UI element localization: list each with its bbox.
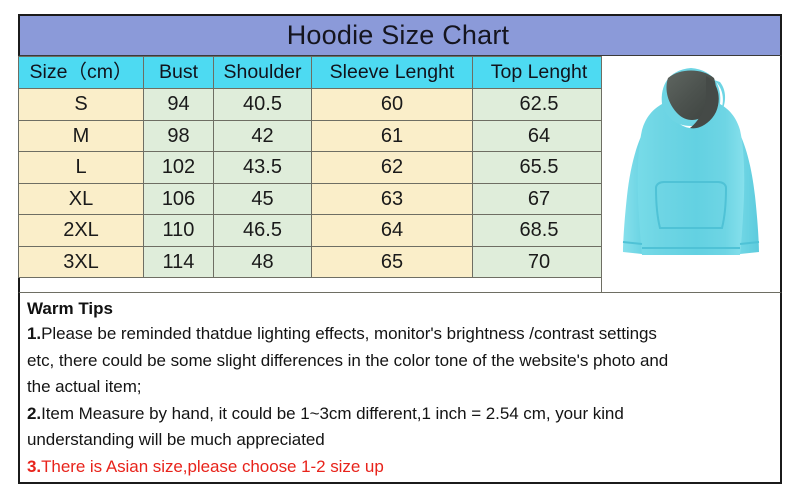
column-header-top-length: Top Lenght (473, 57, 606, 89)
cell-sleeve: 60 (312, 89, 473, 121)
table-row: 2XL 110 46.5 64 68.5 (19, 215, 606, 247)
table-header-row: Size（cm） Bust Shoulder Sleeve Lenght Top… (19, 57, 606, 89)
cell-bust: 114 (144, 246, 214, 278)
warm-tips-section: Warm Tips 1.Please be reminded thatdue l… (18, 292, 782, 484)
cell-size: XL (19, 183, 144, 215)
column-header-size: Size（cm） (19, 57, 144, 89)
cell-size: L (19, 152, 144, 184)
cell-size: 3XL (19, 246, 144, 278)
tip-number-1: 1. (27, 324, 41, 343)
table-row: XL 106 45 63 67 (19, 183, 606, 215)
table-row: M 98 42 61 64 (19, 120, 606, 152)
tip-item-2: 2.Item Measure by hand, it could be 1~3c… (27, 401, 773, 428)
size-chart-document: Hoodie Size Chart Size（cm） Bust Shoulder… (0, 0, 800, 500)
page-title: Hoodie Size Chart (287, 20, 510, 51)
cell-bust: 98 (144, 120, 214, 152)
table-row: 3XL 114 48 65 70 (19, 246, 606, 278)
cell-bust: 102 (144, 152, 214, 184)
tip-text-2-line-1: Item Measure by hand, it could be 1~3cm … (41, 404, 624, 423)
cell-sleeve: 62 (312, 152, 473, 184)
tip-item-1-cont2: the actual item; (27, 374, 773, 401)
cell-shoulder: 48 (214, 246, 312, 278)
cell-shoulder: 42 (214, 120, 312, 152)
column-header-bust: Bust (144, 57, 214, 89)
cell-shoulder: 43.5 (214, 152, 312, 184)
tip-item-1-cont: etc, there could be some slight differen… (27, 348, 773, 375)
column-header-sleeve-length: Sleeve Lenght (312, 57, 473, 89)
cell-sleeve: 63 (312, 183, 473, 215)
cell-top: 64 (473, 120, 606, 152)
chart-title-bar: Hoodie Size Chart (18, 14, 782, 56)
tip-item-1: 1.Please be reminded thatdue lighting ef… (27, 321, 773, 348)
cell-top: 67 (473, 183, 606, 215)
tip-number-3: 3. (27, 457, 41, 476)
cell-shoulder: 40.5 (214, 89, 312, 121)
cell-size: M (19, 120, 144, 152)
cell-shoulder: 46.5 (214, 215, 312, 247)
tip-text-2-line-2: understanding will be much appreciated (27, 430, 325, 449)
tip-item-2-cont: understanding will be much appreciated (27, 427, 773, 454)
cell-bust: 110 (144, 215, 214, 247)
warm-tips-heading: Warm Tips (27, 297, 773, 320)
cell-bust: 106 (144, 183, 214, 215)
cell-top: 65.5 (473, 152, 606, 184)
table-row: L 102 43.5 62 65.5 (19, 152, 606, 184)
tip-text-1-line-1: Please be reminded thatdue lighting effe… (41, 324, 657, 343)
product-photo-panel (601, 56, 782, 292)
cell-size: S (19, 89, 144, 121)
tip-item-3: 3.There is Asian size,please choose 1-2 … (27, 454, 773, 481)
cell-sleeve: 65 (312, 246, 473, 278)
column-header-shoulder: Shoulder (214, 57, 312, 89)
cell-bust: 94 (144, 89, 214, 121)
cell-shoulder: 45 (214, 183, 312, 215)
tip-text-1-line-2: etc, there could be some slight differen… (27, 351, 668, 370)
cell-top: 62.5 (473, 89, 606, 121)
tip-text-1-line-3: the actual item; (27, 377, 141, 396)
cell-top: 68.5 (473, 215, 606, 247)
hoodie-product-image (606, 56, 776, 290)
cell-sleeve: 61 (312, 120, 473, 152)
size-chart-table: Size（cm） Bust Shoulder Sleeve Lenght Top… (18, 56, 606, 278)
cell-sleeve: 64 (312, 215, 473, 247)
table-row: S 94 40.5 60 62.5 (19, 89, 606, 121)
cell-top: 70 (473, 246, 606, 278)
cell-size: 2XL (19, 215, 144, 247)
tip-number-2: 2. (27, 404, 41, 423)
tip-text-3-line-1: There is Asian size,please choose 1-2 si… (41, 457, 384, 476)
